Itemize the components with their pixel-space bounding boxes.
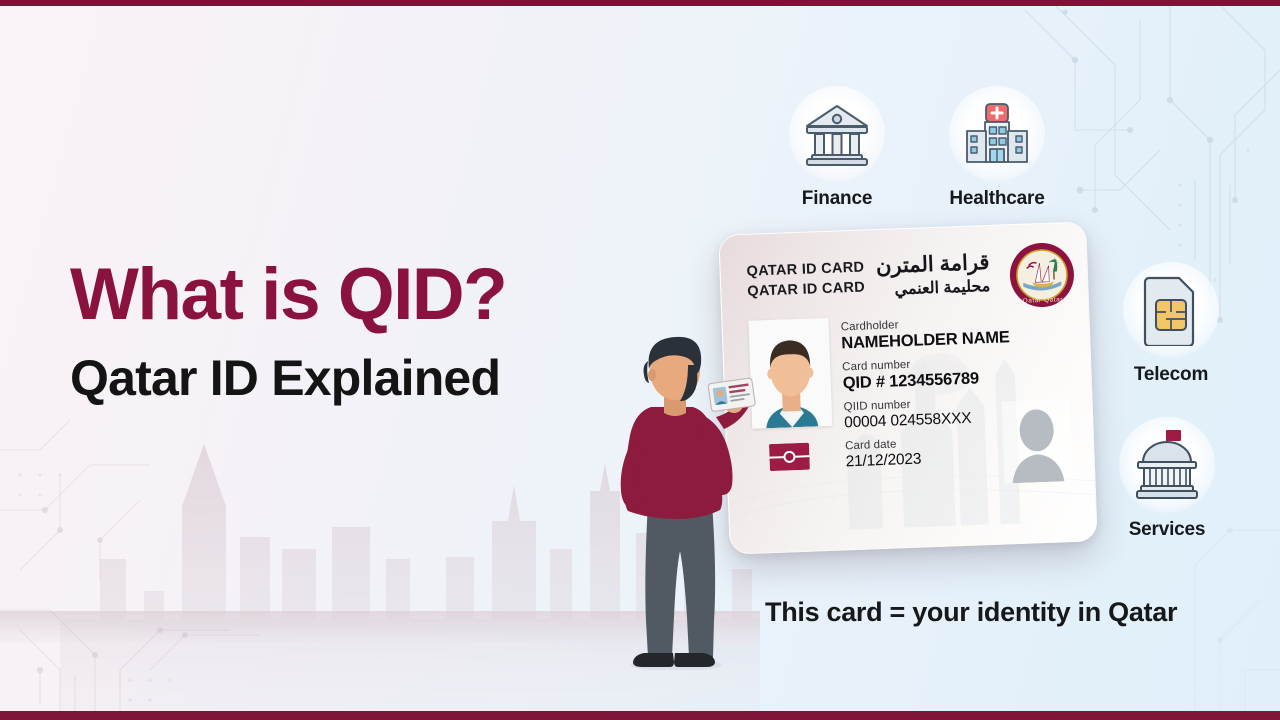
hospital-icon <box>961 99 1033 169</box>
slide-canvas: What is QID? Qatar ID Explained This car… <box>0 0 1280 720</box>
card-field-list: Cardholder NAMEHOLDER NAME Card number Q… <box>841 315 1033 479</box>
svg-text:Qatar Qatar: Qatar Qatar <box>1023 296 1064 304</box>
portrait-illustration <box>748 318 832 429</box>
icon-halo <box>949 86 1045 182</box>
card-title-block: QATAR ID CARD QATAR ID CARD <box>746 259 865 302</box>
service-item-telecom: Telecom <box>1096 262 1246 386</box>
headline-block: What is QID? Qatar ID Explained <box>70 258 506 403</box>
card-arabic-block: قرامة المترن محليمة العنمي <box>876 250 991 301</box>
card-chip-icon <box>769 443 810 471</box>
bank-icon <box>801 99 873 169</box>
icon-halo <box>1119 417 1215 513</box>
tagline-text: This card = your identity in Qatar <box>765 597 1177 628</box>
top-accent-bar <box>0 0 1280 6</box>
service-label: Finance <box>762 188 912 210</box>
service-item-healthcare: Healthcare <box>922 86 1072 210</box>
service-label: Services <box>1092 519 1242 541</box>
sim-card-icon <box>1141 274 1201 346</box>
icon-halo <box>1123 262 1219 358</box>
service-item-services: Services <box>1092 417 1242 541</box>
qatar-emblem-icon: Qatar Qatar <box>1008 241 1076 309</box>
bottom-accent-bar <box>0 711 1280 720</box>
icon-halo <box>789 86 885 182</box>
service-label: Healthcare <box>922 188 1072 210</box>
person-illustration <box>612 335 757 670</box>
government-building-icon <box>1129 429 1205 501</box>
service-item-finance: Finance <box>762 86 912 210</box>
card-arabic-line2: محليمة العنمي <box>877 277 991 301</box>
qatar-id-card: QATAR ID CARD QATAR ID CARD قرامة المترن… <box>718 221 1097 554</box>
card-surface: QATAR ID CARD QATAR ID CARD قرامة المترن… <box>718 221 1097 554</box>
page-subtitle: Qatar ID Explained <box>70 353 506 403</box>
service-label: Telecom <box>1096 364 1246 386</box>
cardholder-photo <box>748 318 832 429</box>
page-title: What is QID? <box>70 258 506 331</box>
card-arabic-line1: قرامة المترن <box>876 250 990 280</box>
